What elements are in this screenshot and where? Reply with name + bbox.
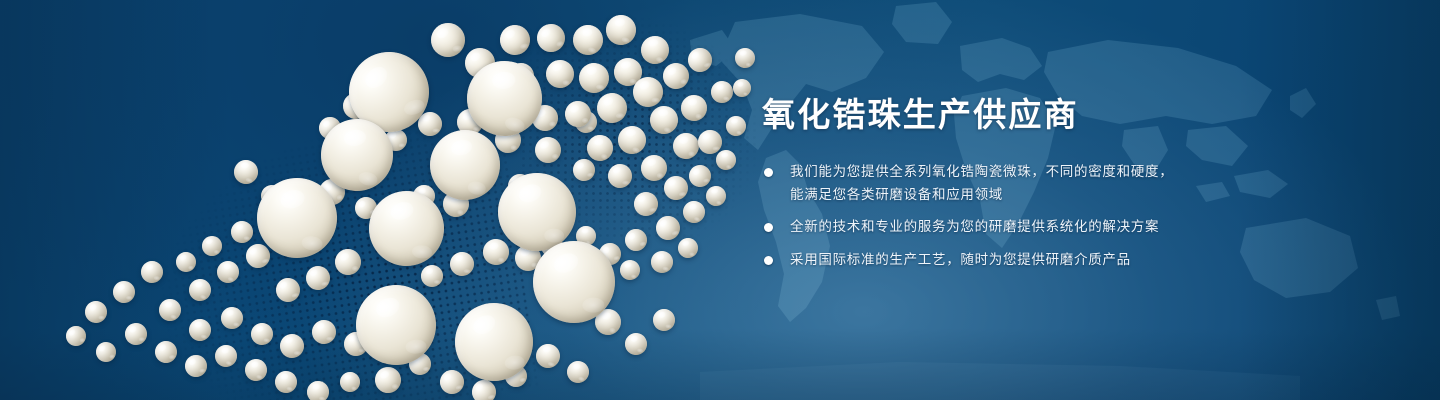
bullet-item: 全新的技术和专业的服务为您的研磨提供系统化的解决方案 bbox=[762, 215, 1382, 238]
banner-content: 氧化锆珠生产供应商 我们能为您提供全系列氧化锆陶瓷微珠，不同的密度和硬度，能满足… bbox=[762, 96, 1382, 271]
bullet-dot-icon bbox=[764, 223, 773, 232]
bullet-dot-icon bbox=[764, 256, 773, 265]
hero-banner: 氧化锆珠生产供应商 我们能为您提供全系列氧化锆陶瓷微珠，不同的密度和硬度，能满足… bbox=[0, 0, 1440, 400]
banner-bullet-list: 我们能为您提供全系列氧化锆陶瓷微珠，不同的密度和硬度，能满足您各类研磨设备和应用… bbox=[762, 160, 1382, 271]
bullet-text-line: 我们能为您提供全系列氧化锆陶瓷微珠，不同的密度和硬度， bbox=[790, 160, 1382, 183]
bullet-text-line: 全新的技术和专业的服务为您的研磨提供系统化的解决方案 bbox=[790, 215, 1382, 238]
bullet-dot-icon bbox=[764, 168, 773, 177]
banner-title: 氧化锆珠生产供应商 bbox=[762, 96, 1382, 134]
bullet-item: 我们能为您提供全系列氧化锆陶瓷微珠，不同的密度和硬度，能满足您各类研磨设备和应用… bbox=[762, 160, 1382, 206]
bullet-text-line: 采用国际标准的生产工艺，随时为您提供研磨介质产品 bbox=[790, 248, 1382, 271]
bullet-text-line: 能满足您各类研磨设备和应用领域 bbox=[790, 183, 1382, 206]
bullet-item: 采用国际标准的生产工艺，随时为您提供研磨介质产品 bbox=[762, 248, 1382, 271]
